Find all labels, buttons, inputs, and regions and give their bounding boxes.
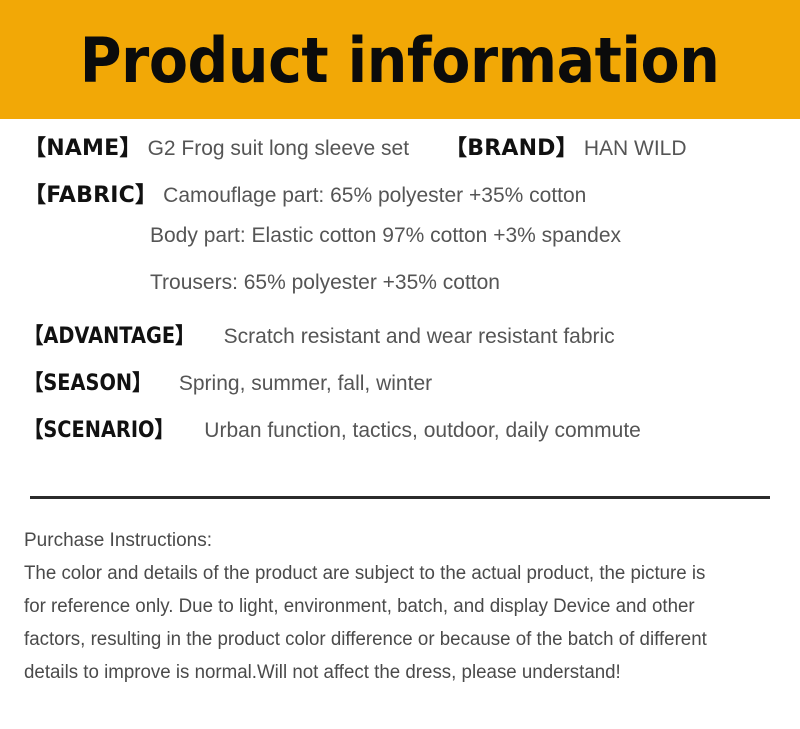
spec-row-fabric-body: Body part: Elastic cotton 97% cotton +3%… <box>0 224 800 271</box>
spec-row-name: 【NAME】 G2 Frog suit long sleeve set 【BRA… <box>0 130 800 177</box>
header-banner: Product information <box>0 0 800 119</box>
spec-value-brand: HAN WILD <box>584 137 687 161</box>
spec-label-scenario: 【SCENARIO】 <box>24 412 174 444</box>
spec-row-season: 【SEASON】 Spring, summer, fall, winter <box>0 365 800 412</box>
purchase-instructions-heading: Purchase Instructions: <box>24 524 788 557</box>
spec-value-name: G2 Frog suit long sleeve set <box>148 137 409 161</box>
spec-label-season: 【SEASON】 <box>24 365 151 397</box>
spec-label-name: 【NAME】 <box>24 130 142 162</box>
spec-label-fabric: 【FABRIC】 <box>24 177 157 209</box>
purchase-instructions-line: The color and details of the product are… <box>24 557 777 590</box>
spec-value-fabric-camouflage: Camouflage part: 65% polyester +35% cott… <box>163 184 586 208</box>
spec-label-brand: 【BRAND】 <box>445 130 578 162</box>
spec-value-fabric-trousers: Trousers: 65% polyester +35% cotton <box>150 271 500 295</box>
purchase-instructions-line: details to improve is normal.Will not af… <box>24 656 777 689</box>
spec-row-fabric-trousers: Trousers: 65% polyester +35% cotton <box>0 271 800 318</box>
section-divider <box>30 496 770 499</box>
spec-label-advantage: 【ADVANTAGE】 <box>24 318 194 350</box>
spec-value-scenario: Urban function, tactics, outdoor, daily … <box>204 419 641 443</box>
purchase-instructions-line: factors, resulting in the product color … <box>24 623 777 656</box>
product-information-page: Product information 【NAME】 G2 Frog suit … <box>0 0 800 729</box>
spec-value-advantage: Scratch resistant and wear resistant fab… <box>224 325 615 349</box>
specification-list: 【NAME】 G2 Frog suit long sleeve set 【BRA… <box>0 130 800 459</box>
spec-row-fabric: 【FABRIC】 Camouflage part: 65% polyester … <box>0 177 800 224</box>
spec-row-advantage: 【ADVANTAGE】 Scratch resistant and wear r… <box>0 318 800 365</box>
spec-value-season: Spring, summer, fall, winter <box>179 372 432 396</box>
spec-row-scenario: 【SCENARIO】 Urban function, tactics, outd… <box>0 412 800 459</box>
purchase-instructions-line: for reference only. Due to light, enviro… <box>24 590 777 623</box>
page-title: Product information <box>80 30 720 92</box>
spec-value-fabric-body: Body part: Elastic cotton 97% cotton +3%… <box>150 224 621 248</box>
purchase-instructions-section: Purchase Instructions: The color and det… <box>24 524 788 689</box>
